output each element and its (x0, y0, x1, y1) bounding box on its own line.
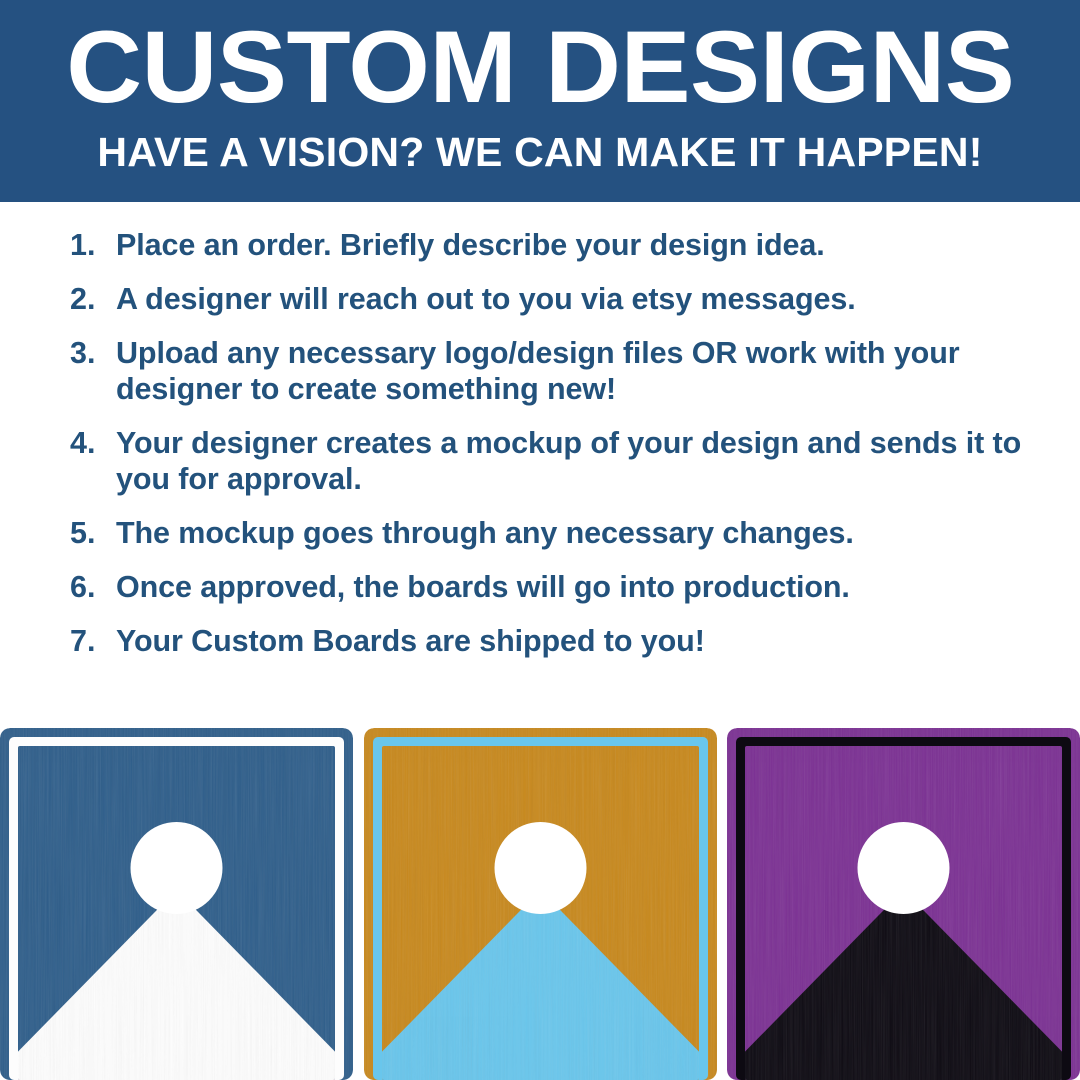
step-text: Upload any necessary logo/design files O… (116, 336, 1030, 408)
step-number: 6. (70, 570, 116, 606)
orange-skyblue-charcoal-board[interactable] (364, 728, 717, 1080)
board-field (727, 746, 1080, 1080)
poster-canvas: CUSTOM DESIGNS HAVE A VISION? WE CAN MAK… (0, 0, 1080, 1080)
blue-red-white-board[interactable] (0, 728, 353, 1080)
step-number: 7. (70, 624, 116, 660)
board-artwork (364, 728, 717, 1080)
list-item: 1.Place an order. Briefly describe your … (70, 228, 1030, 264)
list-item: 2.A designer will reach out to you via e… (70, 282, 1030, 318)
page-title: CUSTOM DESIGNS (66, 16, 1014, 118)
list-item: 4.Your designer creates a mockup of your… (70, 426, 1030, 498)
list-item: 3.Upload any necessary logo/design files… (70, 336, 1030, 408)
purple-black-white-board[interactable] (727, 728, 1080, 1080)
step-text: Your Custom Boards are shipped to you! (116, 624, 1030, 660)
bag-hole (131, 822, 223, 914)
board-artwork (0, 728, 353, 1080)
board-field (0, 746, 353, 1080)
step-number: 3. (70, 336, 116, 372)
step-number: 1. (70, 228, 116, 264)
bag-hole (494, 822, 586, 914)
step-text: The mockup goes through any necessary ch… (116, 516, 1030, 552)
step-text: Place an order. Briefly describe your de… (116, 228, 1030, 264)
list-item: 6.Once approved, the boards will go into… (70, 570, 1030, 606)
board-artwork (727, 728, 1080, 1080)
step-text: A designer will reach out to you via ets… (116, 282, 1030, 318)
list-item: 7.Your Custom Boards are shipped to you! (70, 624, 1030, 660)
step-number: 5. (70, 516, 116, 552)
board-field (364, 746, 717, 1080)
board-gallery (0, 728, 1080, 1080)
list-item: 5.The mockup goes through any necessary … (70, 516, 1030, 552)
bag-hole (858, 822, 950, 914)
step-number: 2. (70, 282, 116, 318)
step-text: Once approved, the boards will go into p… (116, 570, 1030, 606)
steps-list: 1.Place an order. Briefly describe your … (70, 228, 1030, 678)
step-number: 4. (70, 426, 116, 462)
header-banner: CUSTOM DESIGNS HAVE A VISION? WE CAN MAK… (0, 0, 1080, 202)
step-text: Your designer creates a mockup of your d… (116, 426, 1030, 498)
page-subtitle: HAVE A VISION? WE CAN MAKE IT HAPPEN! (97, 132, 982, 173)
